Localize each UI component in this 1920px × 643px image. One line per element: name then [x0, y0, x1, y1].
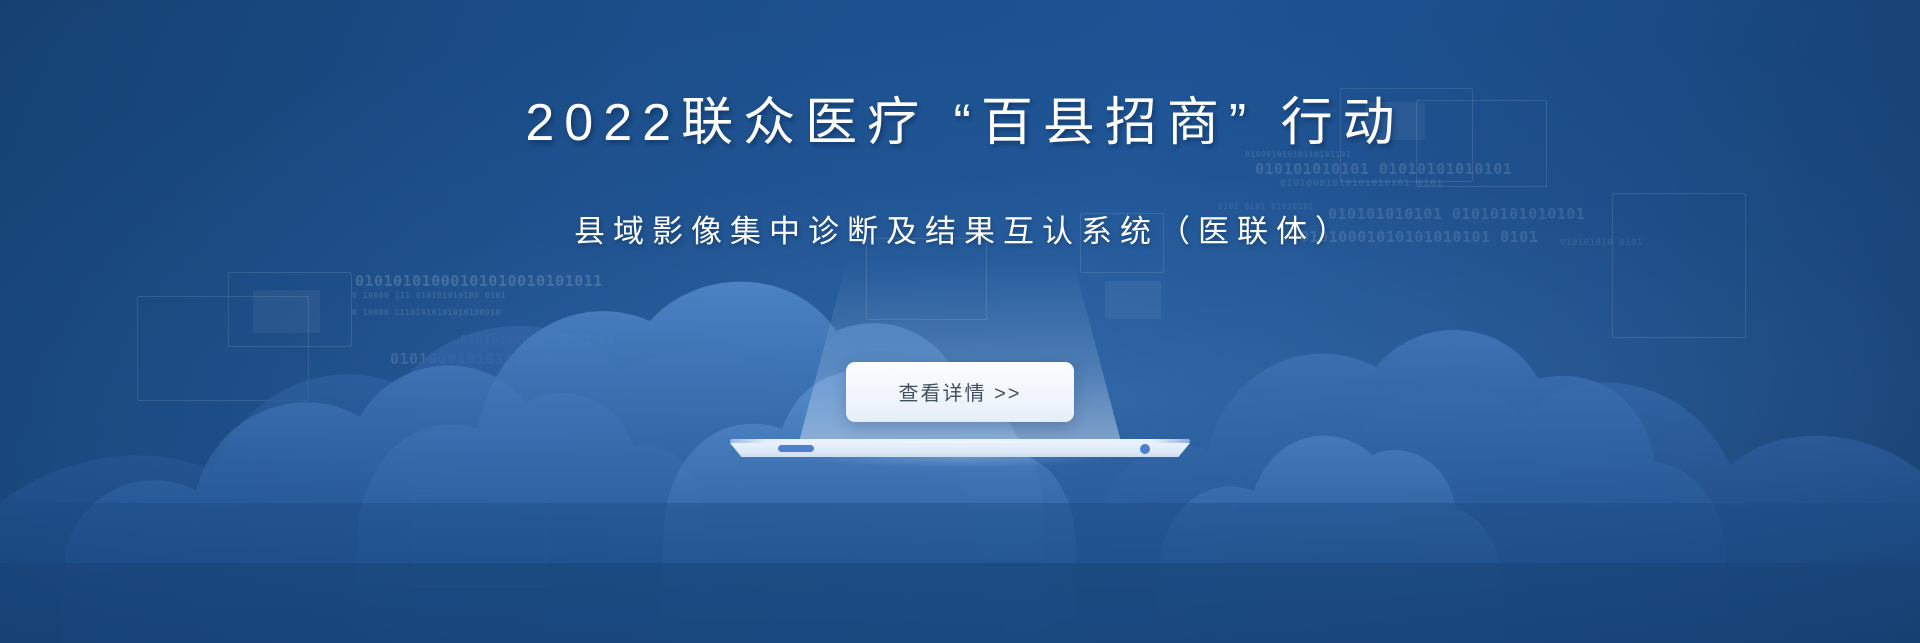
view-details-button[interactable]: 查看详情 >>: [846, 362, 1074, 422]
banner-content: 2022联众医疗 “百县招商” 行动 县域影像集中诊断及结果互认系统（医联体） …: [0, 0, 1920, 643]
promo-banner: 01010101000101010010101011 0 10000 111 0…: [0, 0, 1920, 643]
banner-title: 2022联众医疗 “百县招商” 行动: [0, 97, 1920, 149]
cta-container: 查看详情 >>: [0, 362, 1920, 422]
banner-subtitle: 县域影像集中诊断及结果互认系统（医联体）: [0, 216, 1920, 247]
